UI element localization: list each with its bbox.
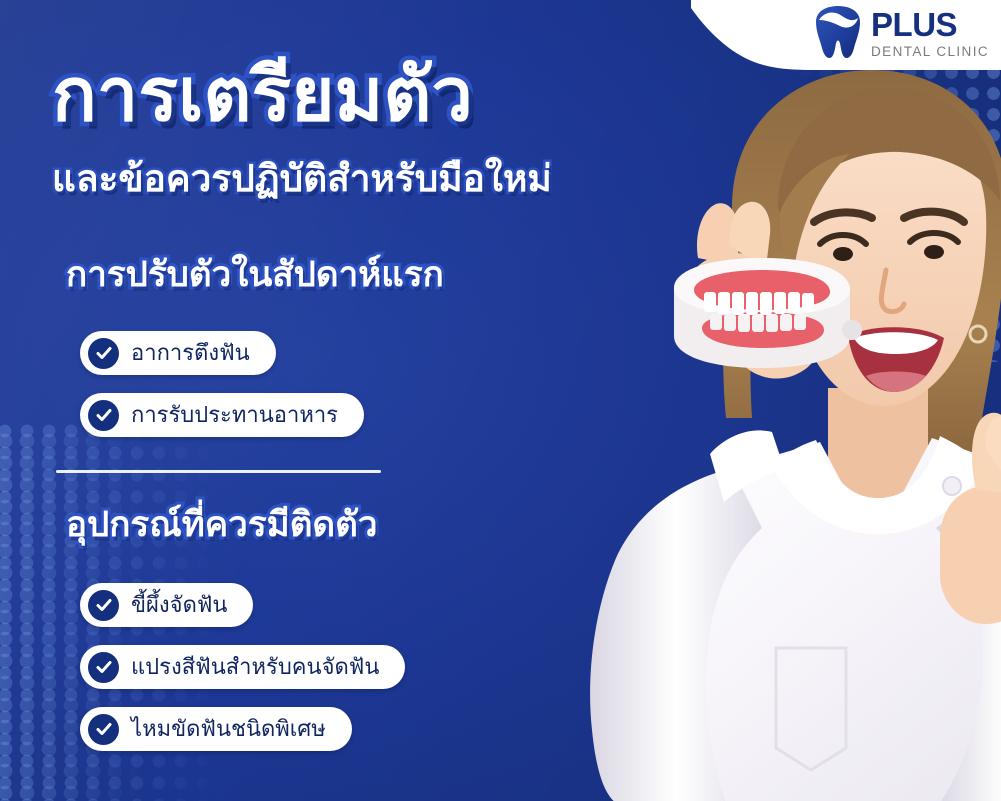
check-circle-icon — [88, 714, 119, 745]
list-item[interactable]: อาการตึงฟัน — [80, 331, 276, 375]
page-subtitle: และข้อควรปฏิบัติสำหรับมือใหม่ — [52, 160, 552, 197]
section-heading-week-one: การปรับตัวในสัปดาห์แรก — [66, 258, 444, 293]
section-heading-essentials: อุปกรณ์ที่ควรมีติดตัว — [66, 508, 378, 543]
list-item[interactable]: ไหมขัดฟันชนิดพิเศษ — [80, 707, 352, 751]
check-circle-icon — [88, 400, 119, 431]
list-item[interactable]: การรับประทานอาหาร — [80, 393, 364, 437]
brand-subtitle: DENTAL CLINIC — [871, 45, 989, 59]
tooth-icon — [814, 4, 862, 60]
check-circle-icon — [88, 590, 119, 621]
list-item-label: แปรงสีฟันสำหรับคนจัดฟัน — [131, 649, 379, 686]
poster-canvas: PLUS DENTAL CLINIC การเตรียมตัว และข้อคว… — [0, 0, 1001, 801]
list-item-label: ไหมขัดฟันชนิดพิเศษ — [131, 711, 326, 748]
check-circle-icon — [88, 338, 119, 369]
list-item[interactable]: แปรงสีฟันสำหรับคนจัดฟัน — [80, 645, 405, 689]
list-item[interactable]: ขี้ผึ้งจัดฟัน — [80, 583, 253, 627]
check-circle-icon — [88, 652, 119, 683]
list-item-label: อาการตึงฟัน — [131, 335, 250, 372]
brand-logo-banner: PLUS DENTAL CLINIC — [691, 0, 1001, 70]
content-column: การเตรียมตัว และข้อควรปฏิบัติสำหรับมือให… — [0, 0, 640, 801]
page-title: การเตรียมตัว — [52, 58, 473, 132]
list-item-label: การรับประทานอาหาร — [131, 397, 338, 434]
section-divider — [56, 470, 381, 473]
list-item-label: ขี้ผึ้งจัดฟัน — [131, 587, 227, 624]
brand-name: PLUS — [871, 8, 989, 41]
